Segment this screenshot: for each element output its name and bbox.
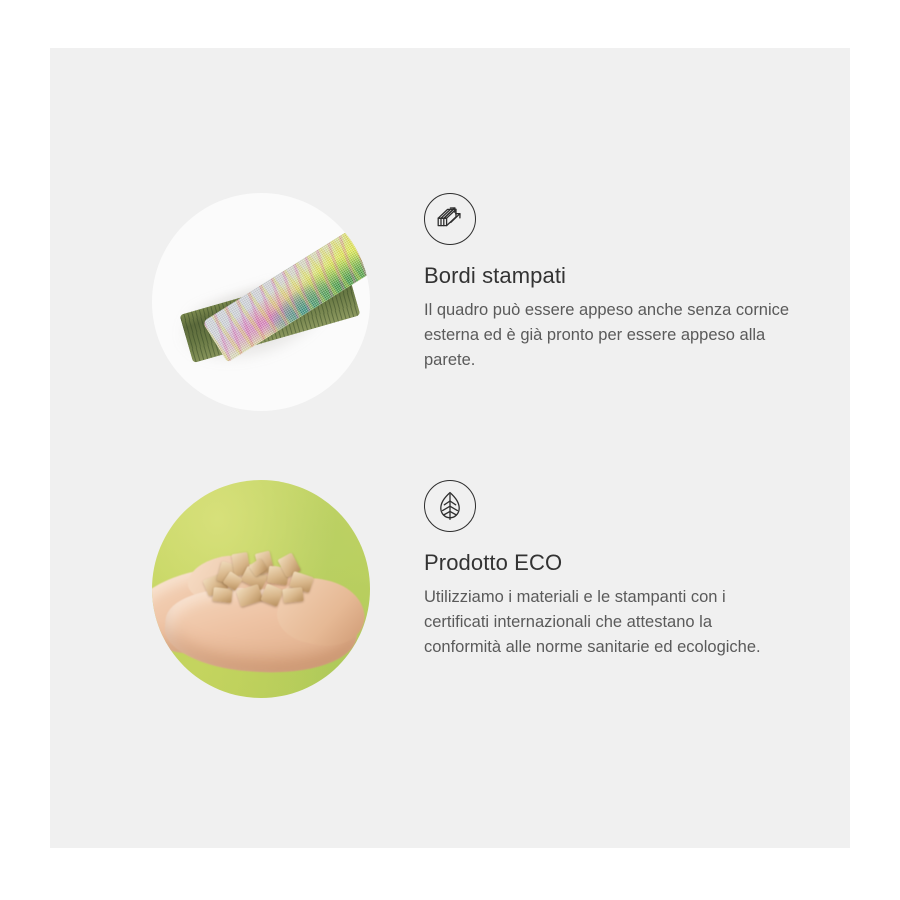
- printed-edges-icon: [424, 193, 476, 245]
- feature-description: Il quadro può essere appeso anche senza …: [424, 298, 790, 373]
- product-info-page: Bordi stampati Il quadro può essere appe…: [0, 0, 900, 900]
- leaf-icon: [424, 480, 476, 532]
- wood-chips-hands-photo: [152, 480, 370, 698]
- feature-text-block: Prodotto ECO Utilizziamo i materiali e l…: [424, 480, 804, 660]
- canvas-corner-image: [152, 193, 370, 411]
- wood-chips-image: [152, 480, 370, 698]
- feature-title: Bordi stampati: [424, 263, 804, 289]
- wood-chips-pile: [200, 548, 326, 613]
- feature-text-block: Bordi stampati Il quadro può essere appe…: [424, 193, 804, 373]
- feature-description: Utilizziamo i materiali e le stampanti c…: [424, 585, 790, 660]
- meadow-background: [152, 480, 370, 698]
- content-panel: Bordi stampati Il quadro può essere appe…: [50, 48, 850, 848]
- feature-title: Prodotto ECO: [424, 550, 804, 576]
- canvas-corner-photo: [152, 193, 370, 411]
